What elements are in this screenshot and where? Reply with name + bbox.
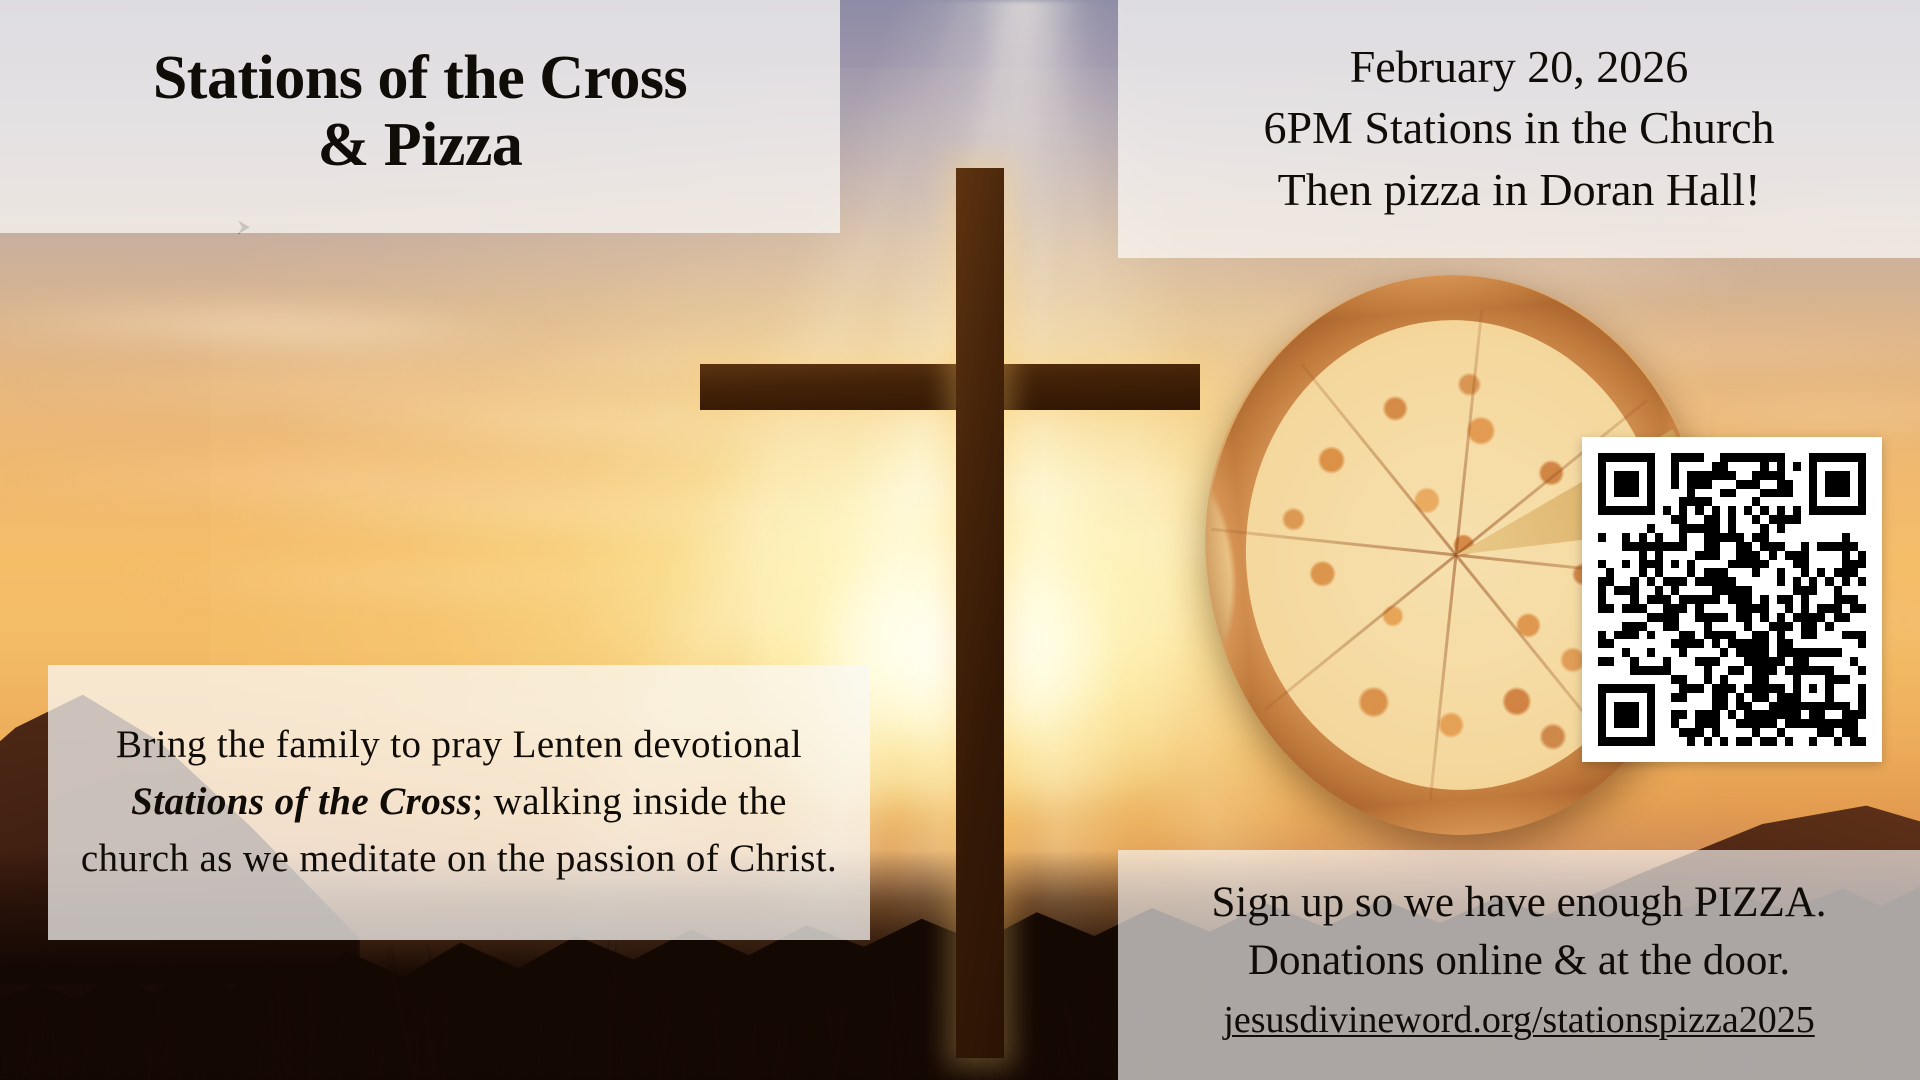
title-line-2: & Pizza: [153, 112, 687, 179]
grass-blade: [708, 1047, 716, 1080]
grass-blade: [129, 994, 133, 1080]
grass-blade: [13, 1046, 18, 1080]
grass-blade: [707, 982, 724, 1080]
grass-blade: [83, 957, 86, 1080]
grass-blade: [465, 943, 467, 1080]
cross-crossbeam: [700, 364, 1200, 410]
grass-blade: [377, 963, 392, 1080]
grass-blade: [1049, 978, 1062, 1080]
grass-blade: [910, 1009, 914, 1080]
grass-blade: [490, 1023, 499, 1080]
grass-blade: [62, 1046, 66, 1080]
grass-blade: [194, 1018, 197, 1080]
grass-blade: [322, 950, 329, 1080]
page-title: Stations of the Cross & Pizza: [153, 45, 687, 179]
grass-blade: [303, 947, 321, 1080]
grass-blade: [178, 1026, 191, 1080]
grass-blade: [816, 1019, 827, 1080]
grass-blade: [338, 966, 346, 1080]
grass-blade: [98, 965, 109, 1080]
signup-prompt: Sign up so we have enough PIZZA.: [1211, 874, 1826, 932]
grass-blade: [505, 950, 522, 1080]
title-line-1: Stations of the Cross: [153, 44, 687, 112]
grass-blade: [632, 962, 647, 1080]
grass-blade: [225, 999, 234, 1080]
grass-blade: [468, 991, 476, 1080]
title-panel: Stations of the Cross & Pizza: [0, 0, 840, 233]
event-date: February 20, 2026: [1350, 36, 1689, 97]
grass-blade: [499, 1035, 509, 1080]
grass-blade: [332, 943, 356, 1080]
grass-blade: [643, 954, 664, 1080]
qr-code-signup[interactable]: [1582, 437, 1882, 762]
donations-note: Donations online & at the door.: [1248, 932, 1790, 990]
grass-blade: [607, 938, 610, 1080]
cross-silhouette: [915, 168, 1045, 1058]
cross-upright: [956, 168, 1004, 1058]
event-time-location: 6PM Stations in the Church: [1263, 97, 1774, 158]
grass-blade: [860, 1022, 865, 1080]
description-text: Bring the family to pray Lenten devotion…: [74, 717, 844, 888]
grass-blade: [111, 1018, 113, 1080]
grass-blade: [627, 1045, 631, 1080]
signup-panel: Sign up so we have enough PIZZA. Donatio…: [1118, 850, 1920, 1080]
signup-url-link[interactable]: jesusdivineword.org/stationspizza2025: [1223, 994, 1814, 1048]
grass-blade: [69, 949, 71, 1080]
description-emphasis: Stations of the Cross: [131, 780, 472, 823]
qr-code-modules: [1598, 453, 1866, 746]
event-details-panel: February 20, 2026 6PM Stations in the Ch…: [1118, 0, 1920, 258]
description-part-1: Bring the family to pray Lenten devotion…: [116, 723, 802, 766]
grass-blade: [618, 973, 632, 1080]
event-followup-location: Then pizza in Doran Hall!: [1278, 159, 1761, 220]
description-panel: Bring the family to pray Lenten devotion…: [48, 665, 870, 940]
grass-blade: [1113, 1028, 1118, 1080]
grass-blade: [537, 982, 544, 1080]
grass-blade: [443, 963, 449, 1080]
event-poster: ⮞ Stations of the Cross & Pizza: [0, 0, 1920, 1080]
grass-blade: [203, 968, 223, 1080]
